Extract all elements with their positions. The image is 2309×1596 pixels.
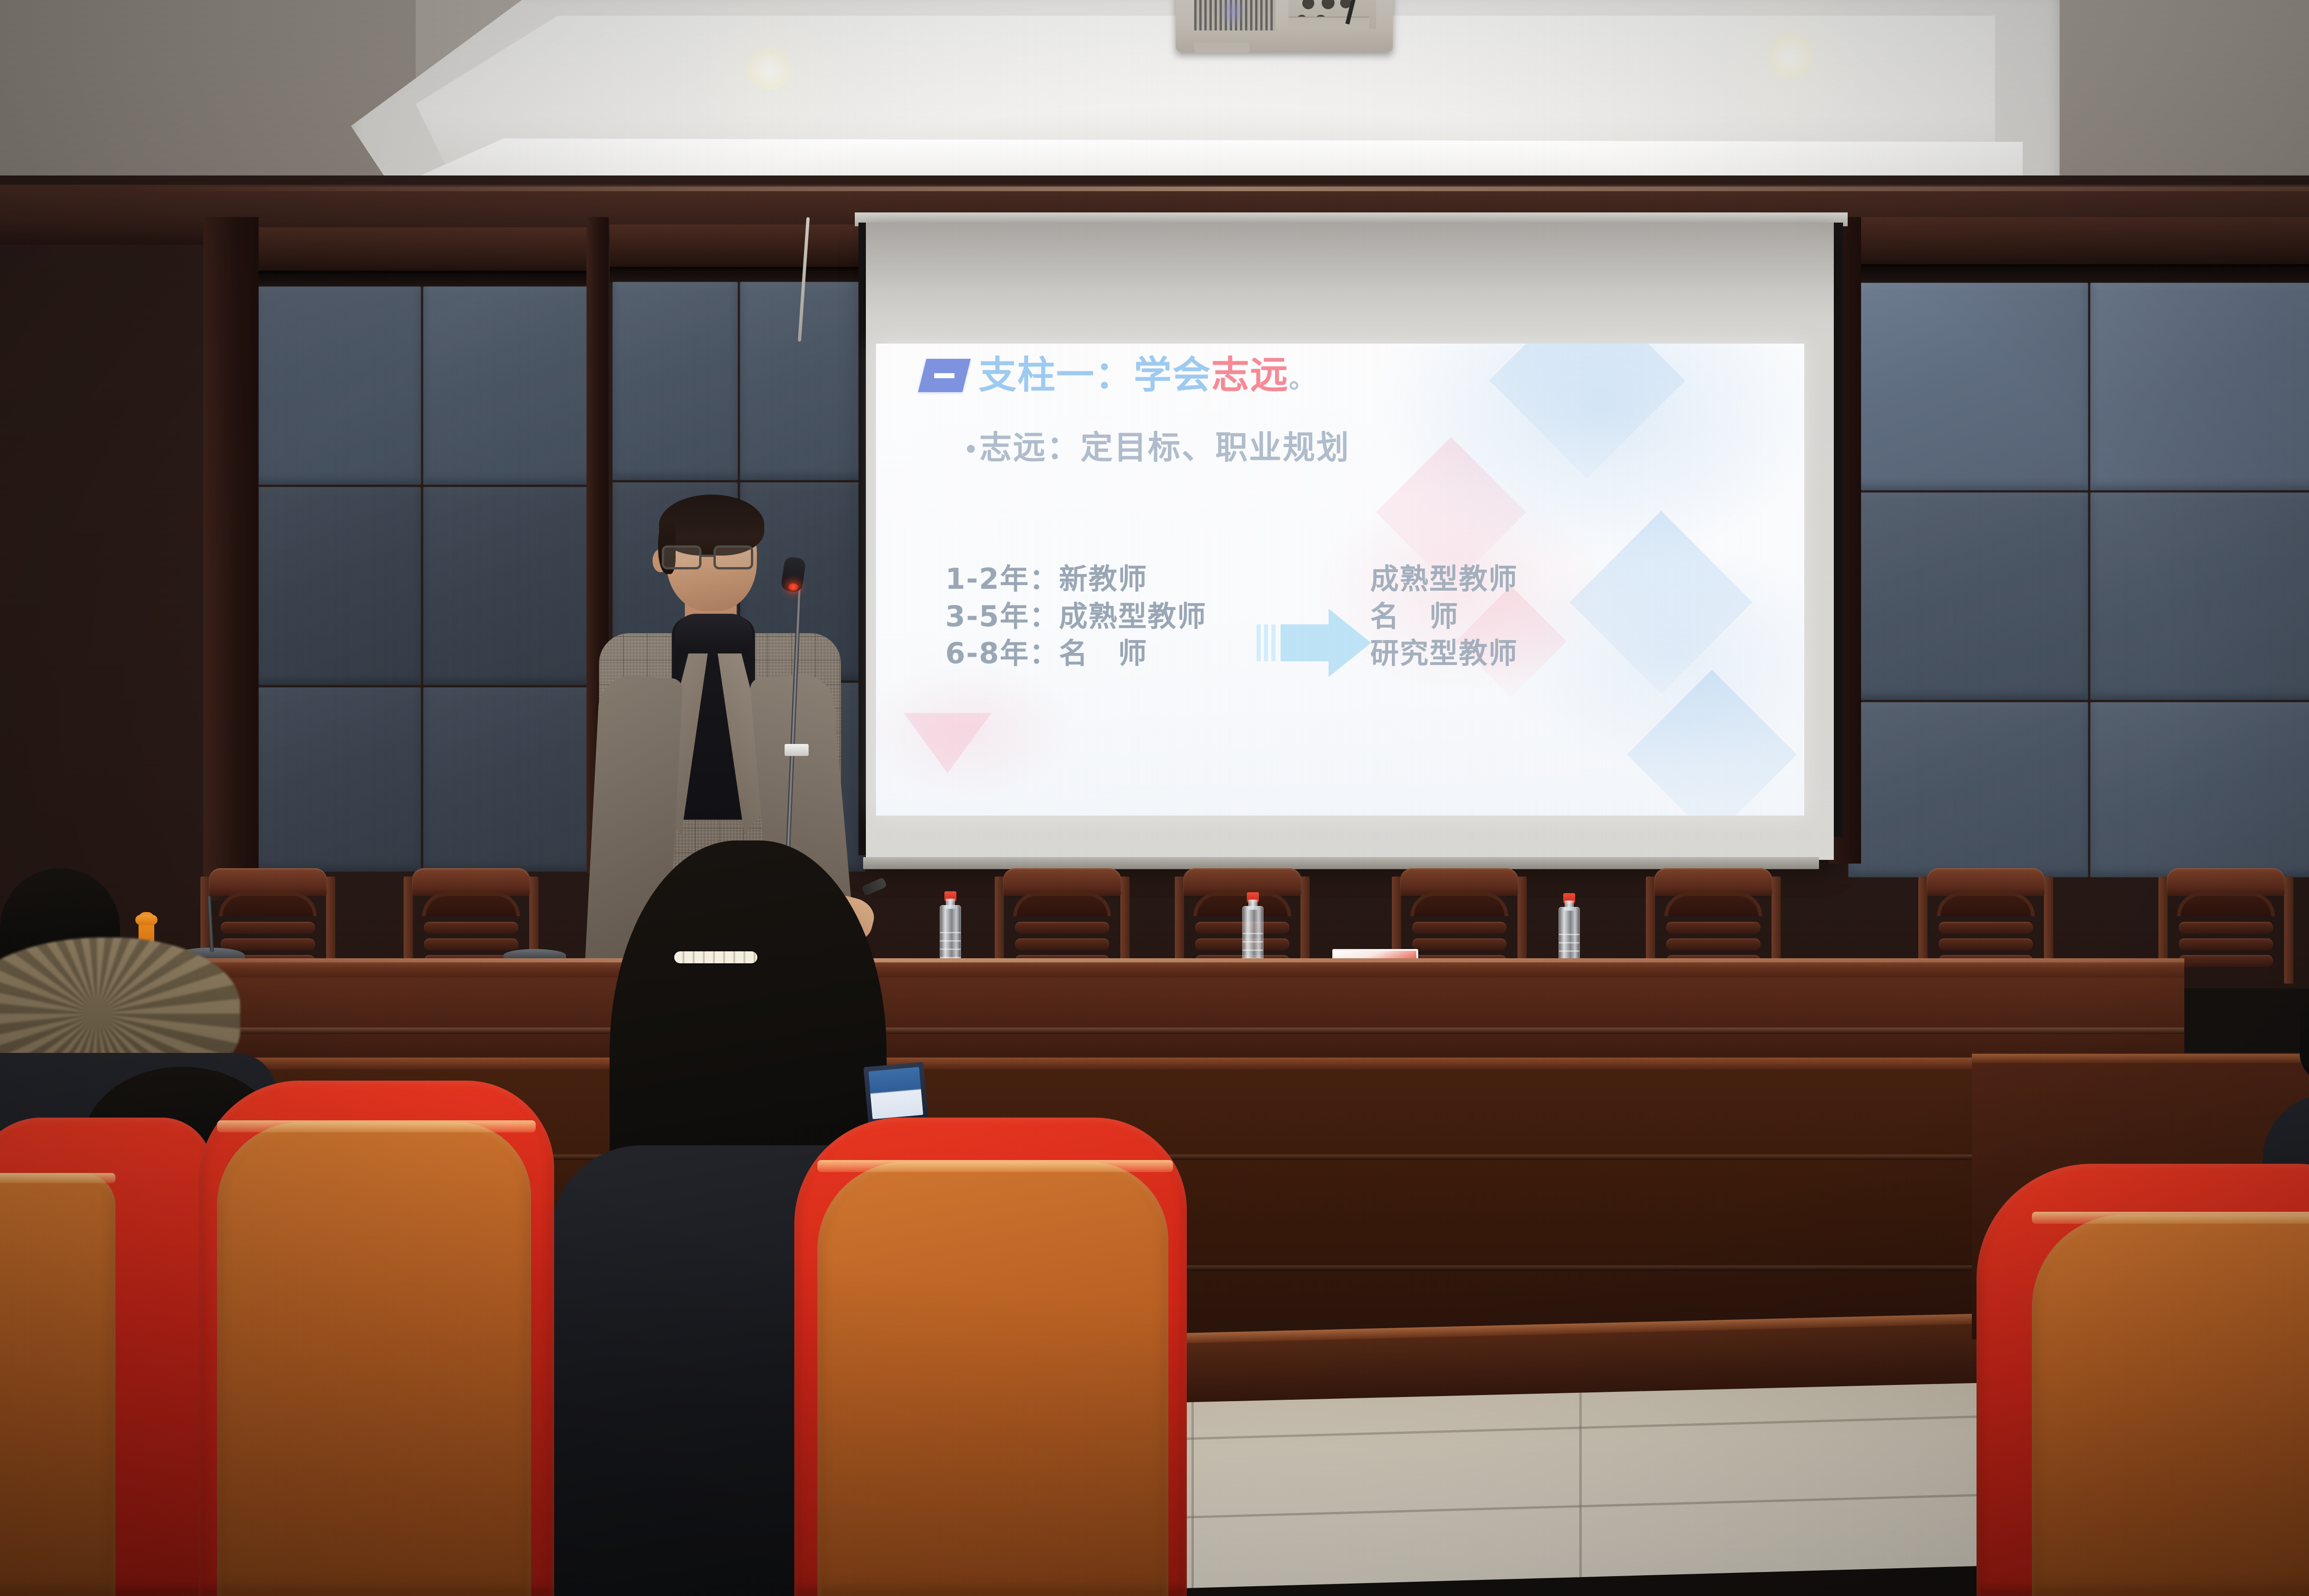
- slide-heading-blue: 支柱一：学会: [979, 353, 1211, 397]
- auditorium-seat: [199, 1081, 554, 1596]
- panel-shadow: [1845, 264, 2309, 284]
- slide-subheading-text: 志远：定目标、职业规划: [979, 429, 1350, 466]
- auditorium-seat: [1977, 1164, 2309, 1596]
- hair-barrette: [674, 951, 757, 963]
- wood-column: [203, 217, 259, 901]
- slide-role-column: 成熟型教师 名 师 研究型教师: [1370, 561, 1518, 672]
- auditorium-seat: [0, 1118, 212, 1596]
- slide-year-line: 1-2年：新教师: [945, 561, 1207, 598]
- projector-label-strip: [1288, 17, 1369, 29]
- slide-bullet: •: [964, 437, 979, 463]
- slide-heading-red: 志远: [1211, 353, 1289, 397]
- slide-year-column: 1-2年：新教师 3-5年：成熟型教师 6-8年：名 师: [945, 561, 1207, 672]
- slide-subheading: •志远：定目标、职业规划: [964, 431, 1350, 464]
- slide-decor-triangle: [904, 713, 991, 773]
- wall-header-highlight: [125, 187, 2309, 191]
- panel-shadow: [610, 267, 868, 283]
- right-arrow-icon: [1255, 602, 1375, 690]
- slide-decor-diamond: [1627, 670, 1797, 816]
- screen-top-shadow: [866, 223, 1834, 320]
- projector-port: [1322, 0, 1335, 9]
- slide-heading: 支柱一：学会志远。: [922, 357, 1316, 394]
- attendee-laptop: [864, 1062, 929, 1126]
- projector-foot: [1194, 42, 1250, 53]
- slide-role-line: 成熟型教师: [1370, 561, 1518, 598]
- downlight-icon: [1764, 32, 1816, 79]
- laptop-screen: [869, 1067, 924, 1119]
- table-top-highlight: [152, 958, 2184, 962]
- panel-shadow: [249, 271, 600, 287]
- microphone-led-icon: [788, 583, 798, 591]
- slide-role-line: 研究型教师: [1370, 635, 1518, 672]
- presenter-collar: [675, 614, 752, 653]
- slide-role-line: 名 师: [1370, 598, 1518, 635]
- projector-port: [1302, 0, 1314, 9]
- auditorium-seat: [794, 1118, 1187, 1596]
- wood-trim: [610, 224, 868, 269]
- microphone-clip: [785, 744, 809, 756]
- projector-lamp-glow: [1219, 0, 1246, 28]
- wood-trim: [1845, 217, 2309, 267]
- eyeglasses-icon: [662, 545, 760, 570]
- slide-decor-diamond: [1489, 344, 1685, 478]
- slide-heading-period: 。: [1289, 364, 1316, 394]
- slide-year-line: 6-8年：名 师: [945, 635, 1207, 672]
- downlight-icon: [743, 46, 793, 91]
- minus-badge-icon: [918, 359, 971, 392]
- slide-decor-diamond: [1570, 511, 1753, 694]
- slide-year-line: 3-5年：成熟型教师: [945, 598, 1207, 635]
- wood-trim: [249, 227, 600, 273]
- lecture-hall-photo: 支柱一：学会志远。 •志远：定目标、职业规划 1-2年：新教师 3-5年：成熟型…: [0, 0, 2309, 1596]
- table-trim: [152, 1028, 2184, 1034]
- projected-slide: 支柱一：学会志远。 •志远：定目标、职业规划 1-2年：新教师 3-5年：成熟型…: [876, 344, 1804, 816]
- projection-screen: 支柱一：学会志远。 •志远：定目标、职业规划 1-2年：新教师 3-5年：成熟型…: [866, 223, 1834, 879]
